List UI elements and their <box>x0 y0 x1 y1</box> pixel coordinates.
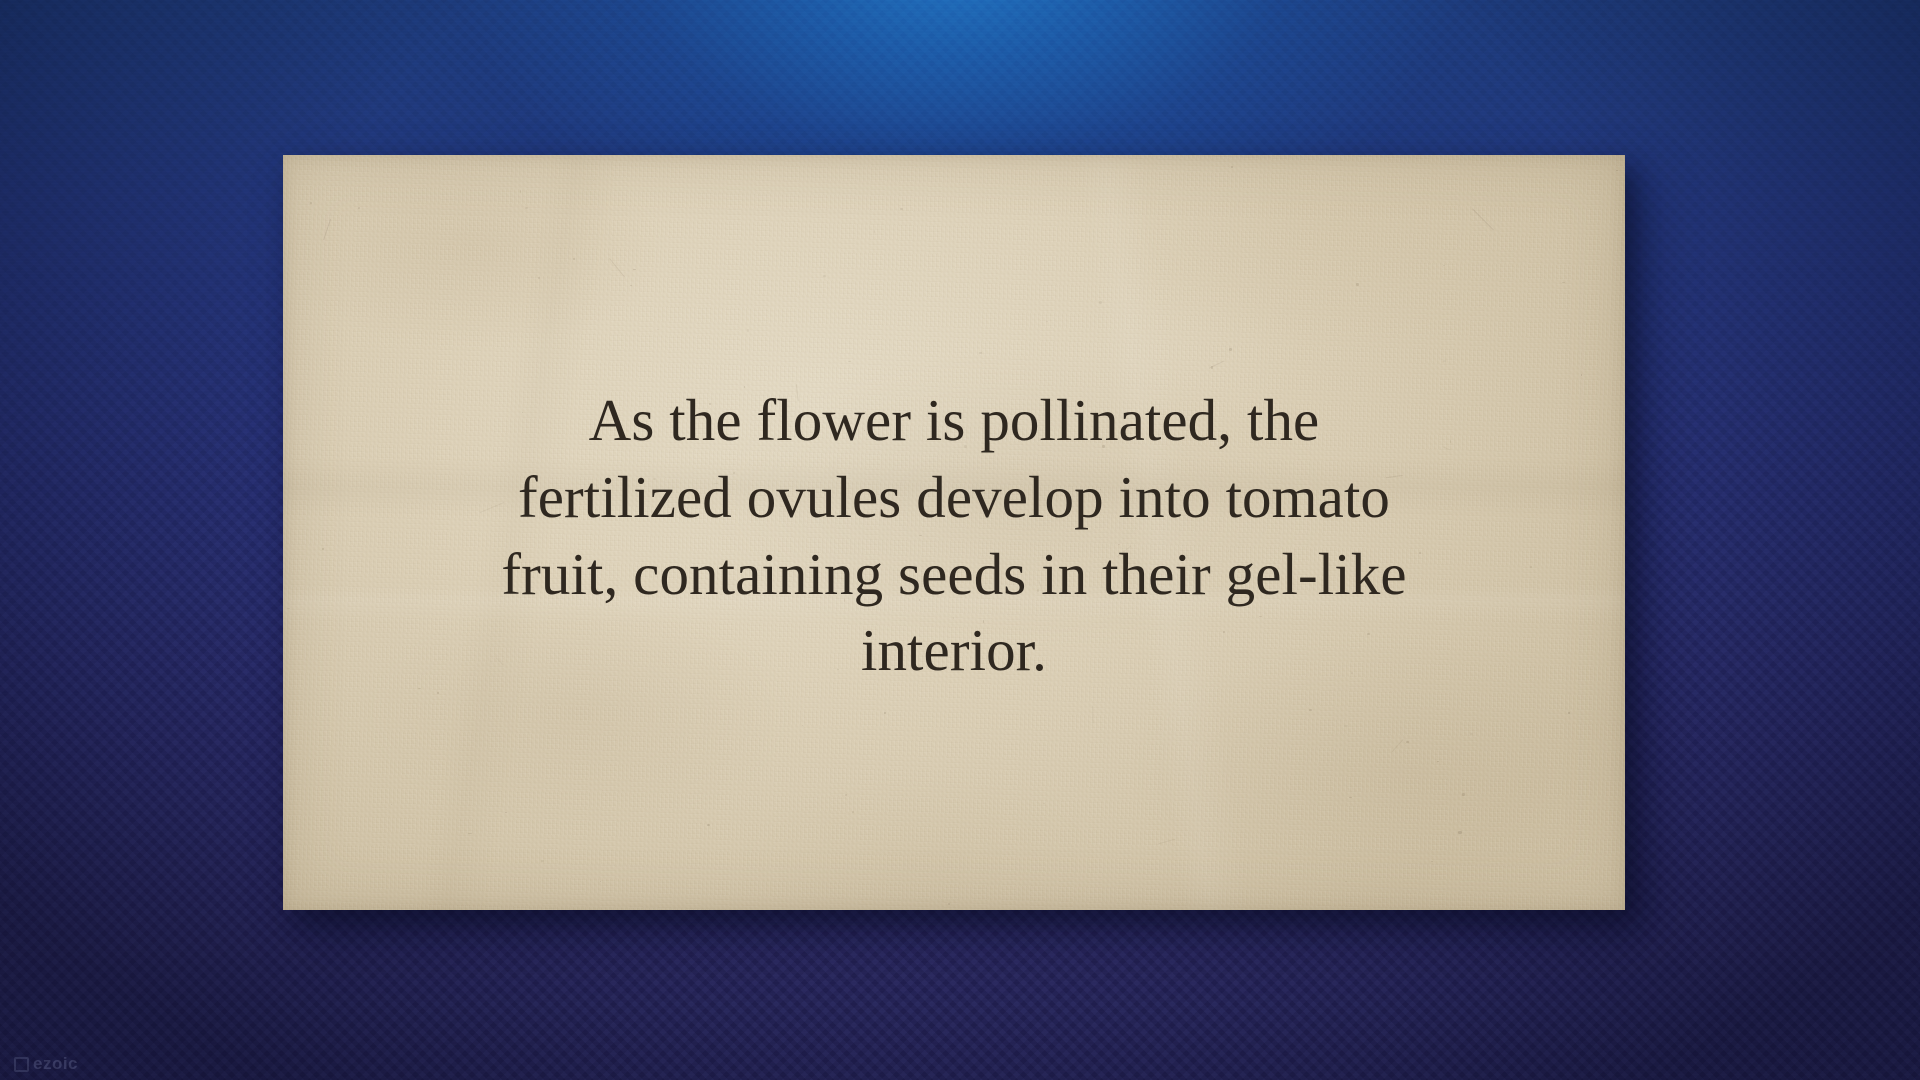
ezoic-watermark: ezoic <box>14 1054 78 1074</box>
quote-text-block: As the flower is pollinated, the fertili… <box>364 382 1544 689</box>
presentation-slide: As the flower is pollinated, the fertili… <box>0 0 1920 1080</box>
quote-line-2: fertilized ovules develop into tomato <box>364 459 1544 536</box>
paper-card: As the flower is pollinated, the fertili… <box>283 155 1625 910</box>
ezoic-logo-icon <box>14 1057 29 1072</box>
quote-line-1: As the flower is pollinated, the <box>364 382 1544 459</box>
quote-line-4: interior. <box>364 612 1544 689</box>
ezoic-watermark-label: ezoic <box>33 1054 78 1074</box>
quote-line-3: fruit, containing seeds in their gel-lik… <box>364 536 1544 613</box>
